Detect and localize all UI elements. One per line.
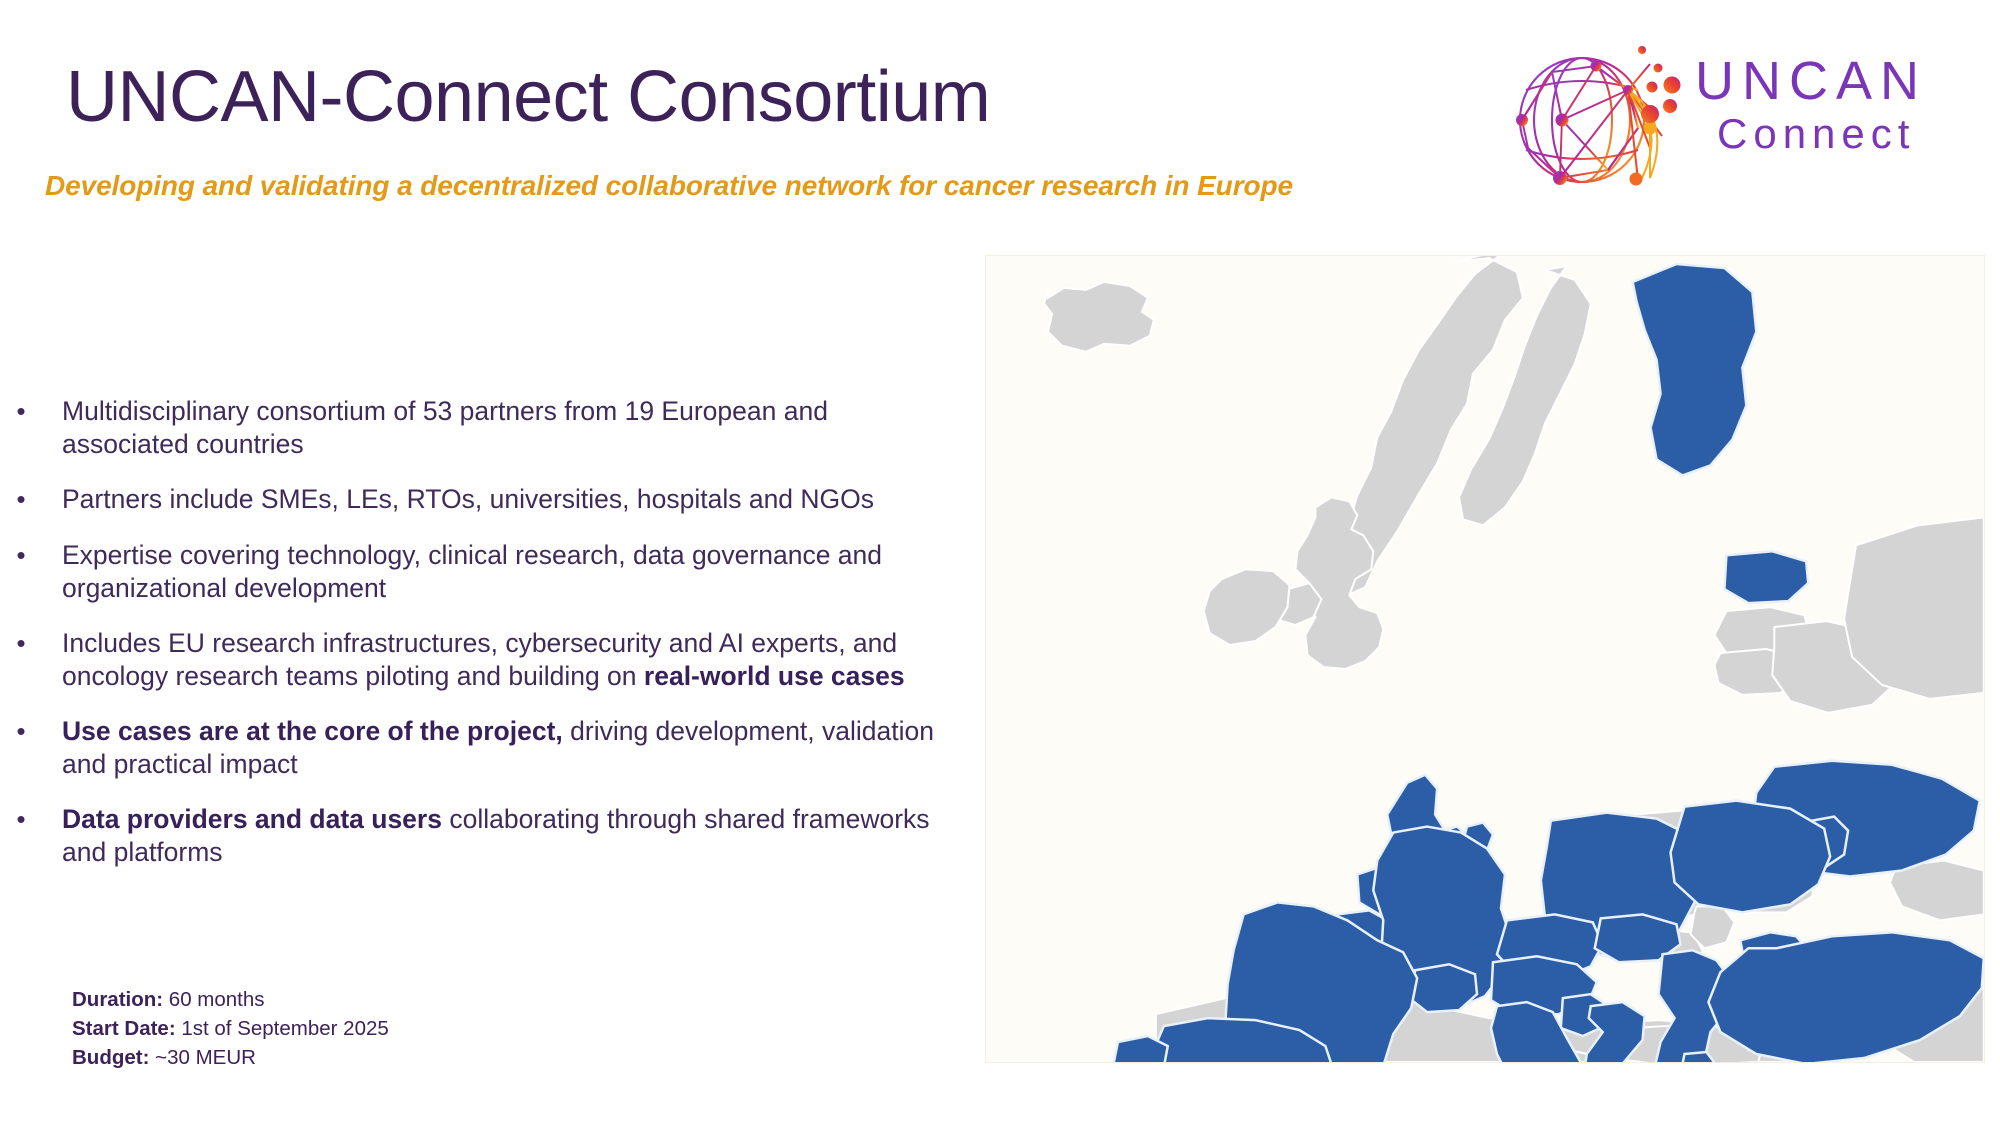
bullet-marker-icon: • bbox=[12, 539, 30, 572]
uncan-globe-network-icon bbox=[1500, 28, 1705, 193]
list-item-text: Includes EU research infrastructures, cy… bbox=[62, 627, 952, 693]
list-item: •Multidisciplinary consortium of 53 part… bbox=[0, 395, 960, 461]
bullet-marker-icon: • bbox=[12, 627, 30, 660]
list-item: •Data providers and data users collabora… bbox=[0, 803, 960, 869]
fact-value: 60 months bbox=[163, 988, 264, 1011]
bullet-marker-icon: • bbox=[12, 483, 30, 516]
fact-key: Start Date: bbox=[72, 1017, 176, 1040]
fact-row: Budget: ~30 MEUR bbox=[72, 1043, 389, 1072]
list-item-text: Use cases are at the core of the project… bbox=[62, 715, 952, 781]
list-item-text: Data providers and data users collaborat… bbox=[62, 803, 952, 869]
uncan-connect-logo: UNCAN Connect bbox=[1500, 28, 1980, 193]
list-item: •Partners include SMEs, LEs, RTOs, unive… bbox=[0, 483, 960, 516]
fact-key: Duration: bbox=[72, 988, 163, 1011]
list-item-text: Multidisciplinary consortium of 53 partn… bbox=[62, 395, 952, 461]
list-item: •Includes EU research infrastructures, c… bbox=[0, 627, 960, 693]
fact-value: 1st of September 2025 bbox=[176, 1017, 389, 1040]
list-item-text: Expertise covering technology, clinical … bbox=[62, 539, 952, 605]
bullet-marker-icon: • bbox=[12, 715, 30, 748]
list-item: •Expertise covering technology, clinical… bbox=[0, 539, 960, 605]
fact-key: Budget: bbox=[72, 1046, 149, 1069]
key-points-list: •Multidisciplinary consortium of 53 part… bbox=[0, 395, 960, 892]
fact-row: Duration: 60 months bbox=[72, 985, 389, 1014]
page-title: UNCAN-Connect Consortium bbox=[66, 60, 990, 136]
fact-value: ~30 MEUR bbox=[149, 1046, 256, 1069]
logo-word-uncan: UNCAN bbox=[1695, 54, 1985, 108]
logo-wordmark: UNCAN Connect bbox=[1695, 54, 1985, 161]
bullet-marker-icon: • bbox=[12, 803, 30, 836]
list-item-text: Partners include SMEs, LEs, RTOs, univer… bbox=[62, 483, 874, 516]
fact-row: Start Date: 1st of September 2025 bbox=[72, 1014, 389, 1043]
project-facts: Duration: 60 monthsStart Date: 1st of Se… bbox=[72, 985, 389, 1072]
page-subtitle: Developing and validating a decentralize… bbox=[45, 170, 1293, 202]
bullet-marker-icon: • bbox=[12, 395, 30, 428]
logo-word-connect: Connect bbox=[1695, 108, 1985, 161]
list-item: •Use cases are at the core of the projec… bbox=[0, 715, 960, 781]
europe-consortium-map bbox=[985, 255, 1985, 1063]
